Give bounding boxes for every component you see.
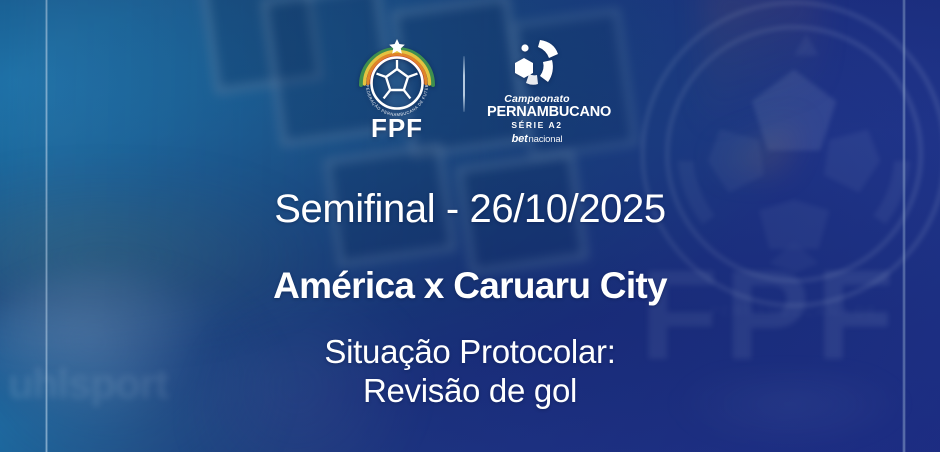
svg-text:FPF: FPF xyxy=(371,113,423,143)
championship-text-block: Campeonato PERNAMBUCANO SÉRIE A2 bet nac… xyxy=(487,94,587,146)
logo-row: FEDERAÇÃO PERNAMBUCANA DE FUTEBOL FPF xyxy=(0,32,940,146)
match-announcement-card: uhlsport PERNAMBUCANA DE xyxy=(0,0,940,452)
match-teams: América x Caruaru City xyxy=(0,264,940,308)
sponsor-betnacional-logo: bet nacional xyxy=(487,133,587,146)
championship-logo: Campeonato PERNAMBUCANO SÉRIE A2 bet nac… xyxy=(487,32,587,146)
sponsor-light-text: nacional xyxy=(529,134,563,146)
sponsor-bold-text: bet xyxy=(512,133,528,145)
championship-line3: SÉRIE A2 xyxy=(487,120,587,130)
logo-divider xyxy=(463,56,465,112)
protocol-status-value: Revisão de gol xyxy=(0,371,940,410)
protocol-status-block: Situação Protocolar: Revisão de gol xyxy=(0,332,940,410)
protocol-status-label: Situação Protocolar: xyxy=(0,332,940,371)
championship-shield-icon xyxy=(500,34,574,92)
championship-line2: PERNAMBUCANO xyxy=(487,105,587,120)
card-content: FEDERAÇÃO PERNAMBUCANA DE FUTEBOL FPF xyxy=(0,0,940,452)
fpf-federation-crest-icon: FEDERAÇÃO PERNAMBUCANA DE FUTEBOL FPF xyxy=(353,33,441,145)
match-stage-and-date: Semifinal - 26/10/2025 xyxy=(0,186,940,232)
